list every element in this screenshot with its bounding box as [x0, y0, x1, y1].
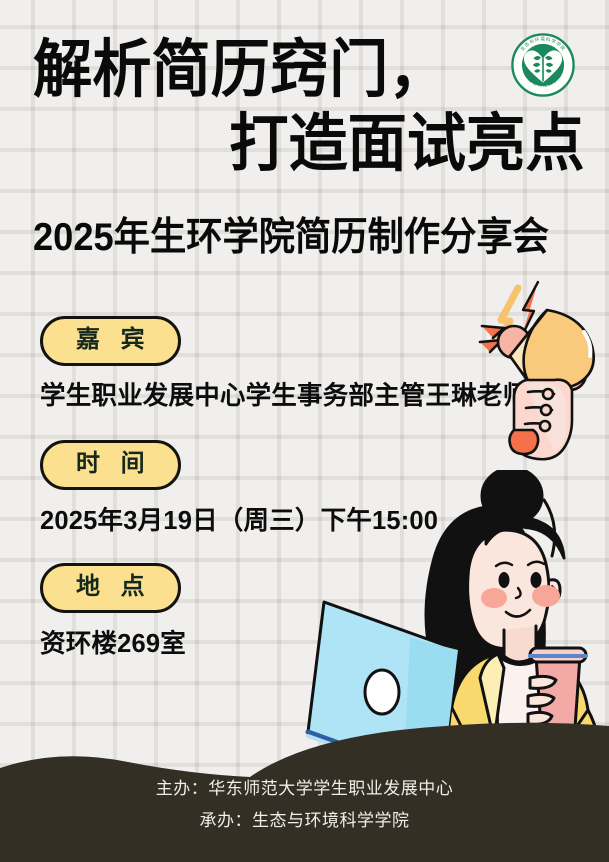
guest-label: 嘉 宾 — [40, 316, 181, 366]
time-label: 时 间 — [40, 440, 181, 490]
title-line-2: 打造面试亮点 — [37, 114, 609, 176]
guest-label-pill: 嘉 宾 — [40, 316, 181, 366]
place-label-pill: 地 点 — [40, 563, 181, 613]
place-label: 地 点 — [40, 563, 181, 613]
footer-band: 主办：华东师范大学学生职业发展中心 承办：生态与环境科学学院 — [0, 722, 609, 862]
footer-line-2: 承办：生态与环境科学学院 — [0, 805, 609, 836]
place-value: 资环楼269室 — [40, 629, 186, 660]
headline-block: 解析简历窍门， 打造面试亮点 — [0, 40, 609, 175]
title-line-1: 解析简历窍门， — [33, 40, 574, 102]
time-label-pill: 时 间 — [40, 440, 181, 490]
footer-line-1: 主办：华东师范大学学生职业发展中心 — [0, 773, 609, 804]
subtitle: 2025年生环学院简历制作分享会 — [33, 218, 546, 257]
megaphone-illustration — [452, 280, 609, 470]
poster-canvas: 生态与环境科学学院 华东师范大学 解析简历窍门， 打造面试亮点 2025年生环学… — [0, 0, 609, 862]
footer-credits: 主办：华东师范大学学生职业发展中心 承办：生态与环境科学学院 — [0, 773, 609, 836]
